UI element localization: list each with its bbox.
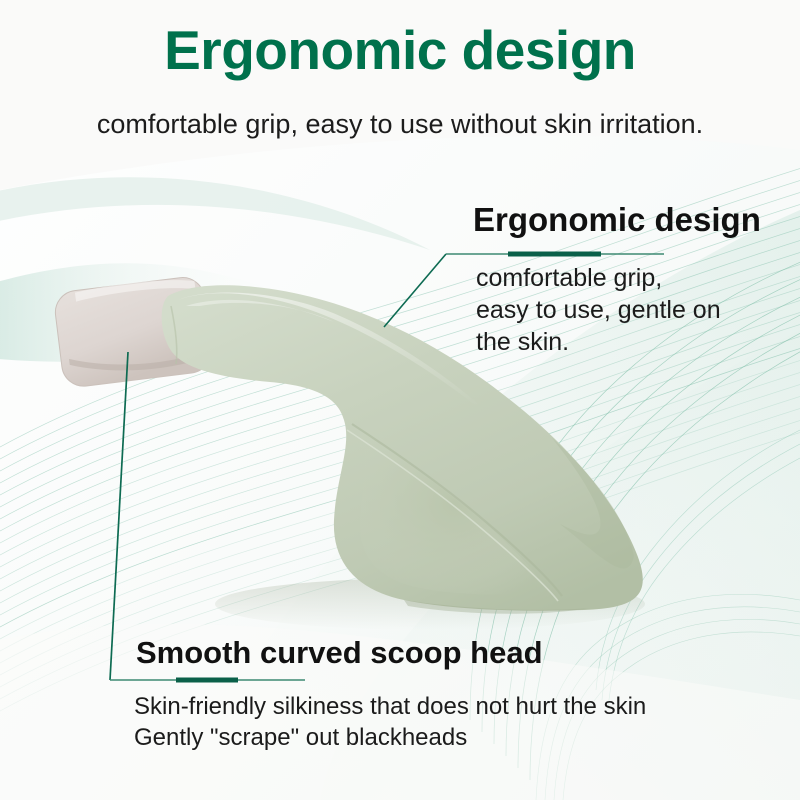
page-title: Ergonomic design <box>0 22 800 80</box>
callout-heading: Ergonomic design <box>473 203 761 236</box>
callout-body: comfortable grip, easy to use, gentle on… <box>476 262 721 358</box>
infographic-canvas: Ergonomic design comfortable grip, easy … <box>0 0 800 800</box>
callout-body: Skin-friendly silkiness that does not hu… <box>134 692 646 753</box>
callout-heading: Smooth curved scoop head <box>136 637 543 668</box>
page-subtitle: comfortable grip, easy to use without sk… <box>0 108 800 140</box>
